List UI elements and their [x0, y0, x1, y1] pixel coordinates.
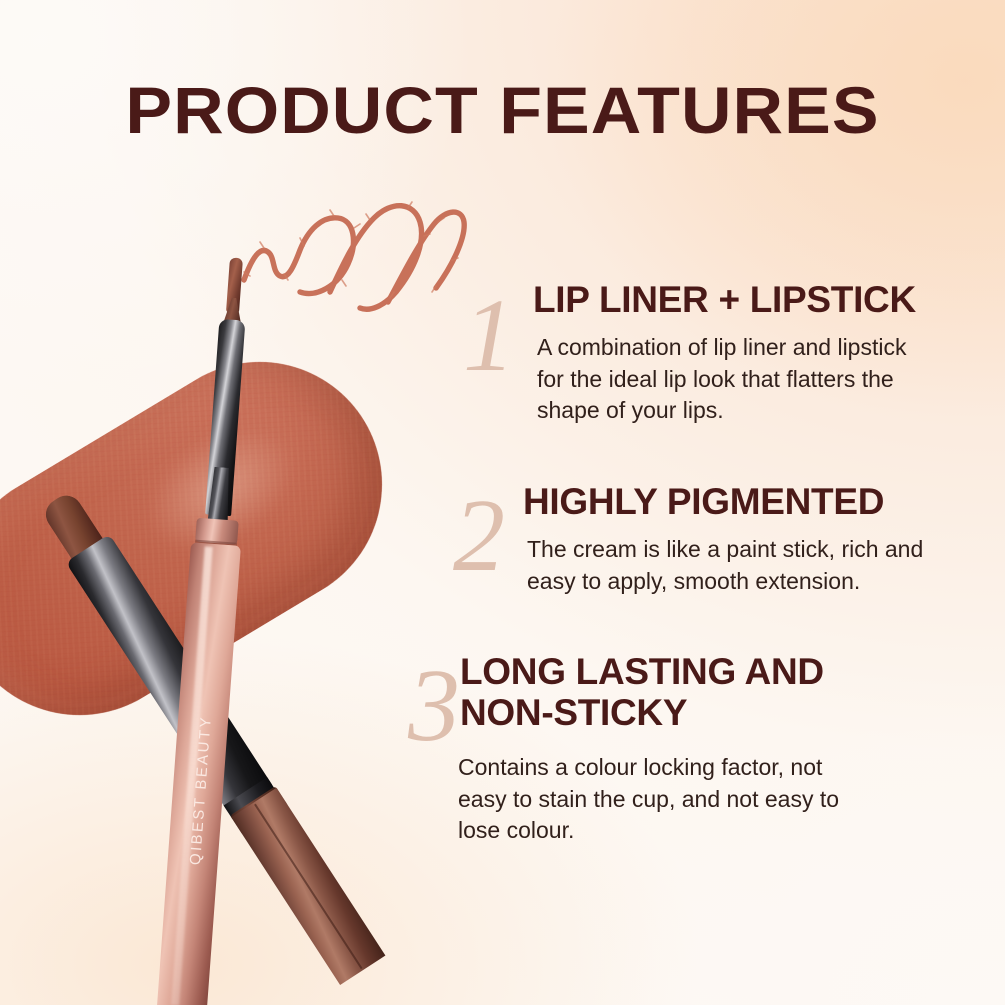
feature-heading-2: HIGHLY PIGMENTED	[523, 482, 884, 523]
feature-number-2: 2	[453, 484, 505, 588]
feature-heading-1: LIP LINER + LIPSTICK	[533, 280, 916, 321]
feature-item-3: 3 LONG LASTING AND NON-STICKY Contains a…	[400, 640, 985, 860]
lip-liner-scribble-icon	[238, 188, 468, 328]
feature-heading-3: LONG LASTING AND NON-STICKY	[460, 652, 824, 733]
product-features-image: QIBEST BEAUTY PRODUCT FEATURES 1 LIP LIN…	[0, 0, 1005, 1005]
feature-body-3: Contains a colour locking factor, not ea…	[458, 752, 878, 847]
feature-item-1: 1 LIP LINER + LIPSTICK A combination of …	[455, 270, 985, 430]
feature-number-3: 3	[408, 654, 460, 758]
feature-body-2: The cream is like a paint stick, rich an…	[527, 534, 967, 597]
page-title: PRODUCT FEATURES	[0, 72, 1005, 148]
feature-body-1: A combination of lip liner and lipstick …	[537, 332, 957, 427]
feature-item-2: 2 HIGHLY PIGMENTED The cream is like a p…	[445, 470, 985, 630]
feature-number-1: 1	[463, 284, 515, 388]
